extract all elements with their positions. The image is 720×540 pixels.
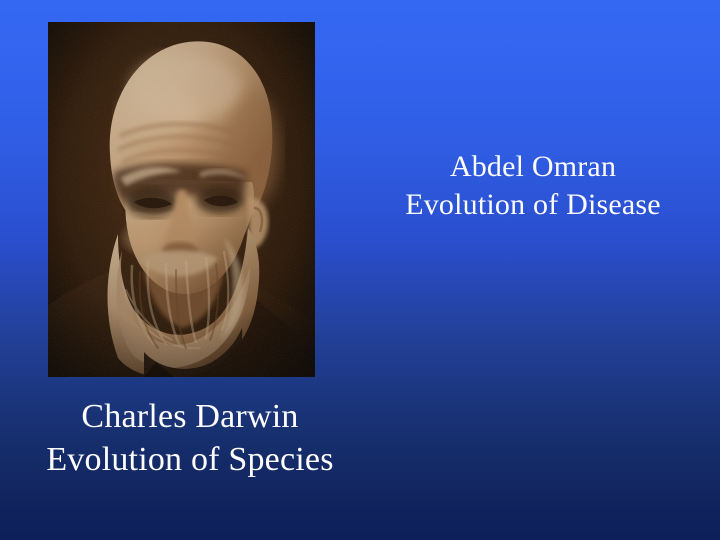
- presentation-slide: Abdel Omran Evolution of Disease Charles…: [0, 0, 720, 540]
- omran-caption: Abdel Omran Evolution of Disease: [373, 148, 693, 224]
- portrait-artwork: [48, 22, 315, 377]
- omran-name: Abdel Omran: [373, 148, 693, 186]
- darwin-subtitle: Evolution of Species: [30, 439, 350, 482]
- darwin-caption: Charles Darwin Evolution of Species: [30, 396, 350, 482]
- darwin-name: Charles Darwin: [30, 396, 350, 439]
- omran-subtitle: Evolution of Disease: [373, 186, 693, 224]
- darwin-portrait-image: [48, 22, 315, 377]
